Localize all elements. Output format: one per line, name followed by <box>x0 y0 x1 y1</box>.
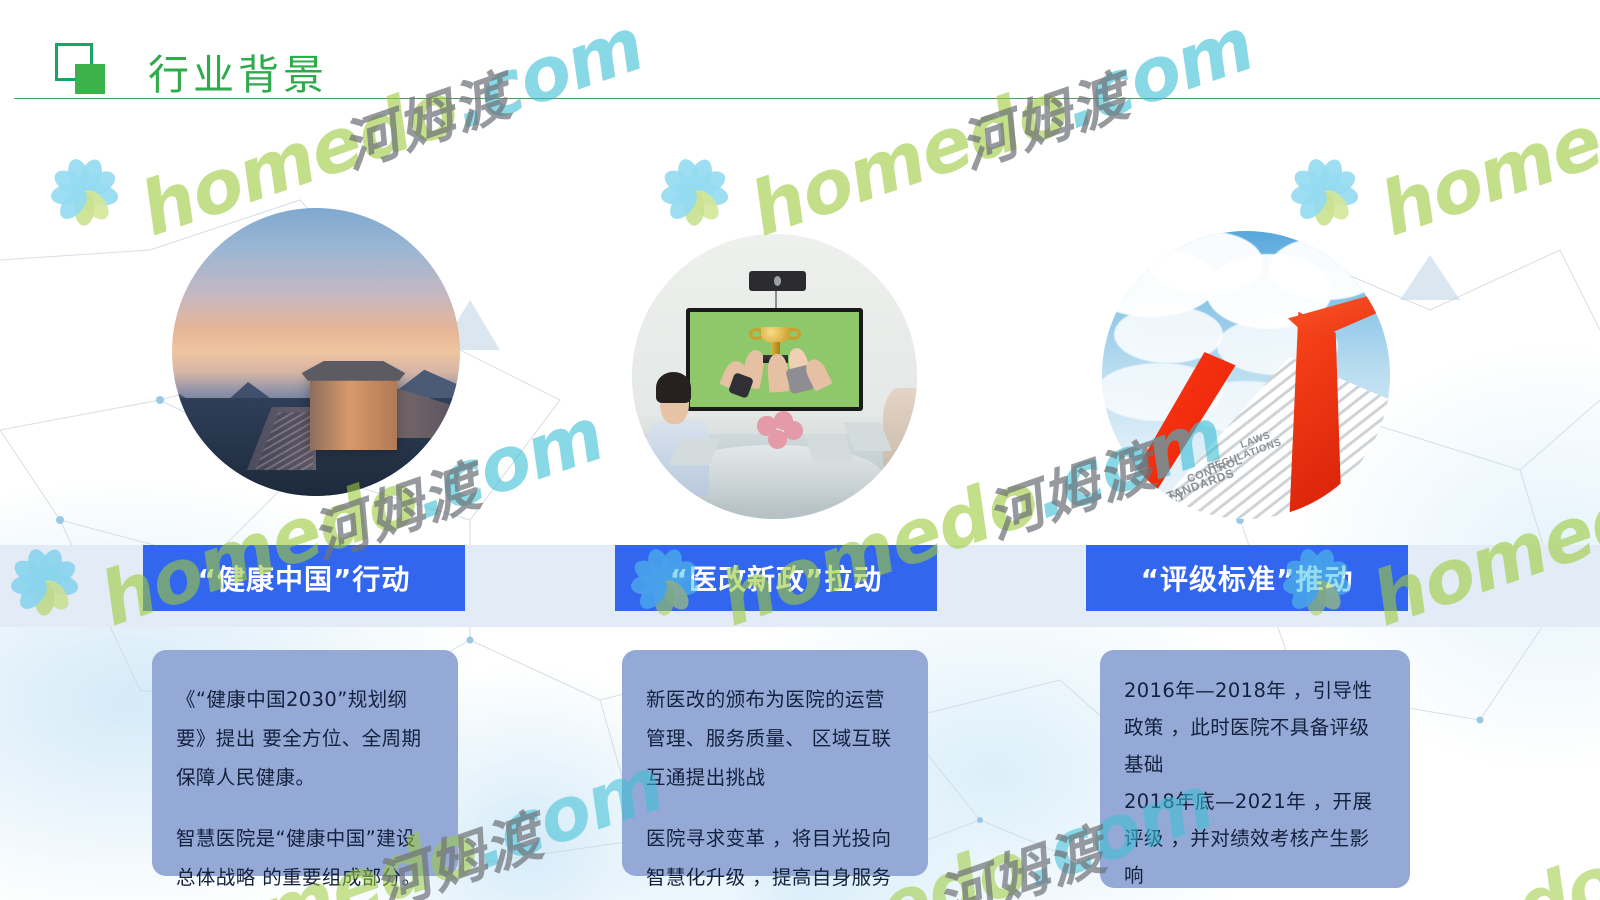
display-screen-content <box>690 312 859 407</box>
slide-header: 行业背景 <box>0 0 1600 110</box>
display-screen-bezel <box>686 308 863 411</box>
attendee-left <box>646 377 709 497</box>
cloud-shape <box>1269 237 1384 300</box>
paragraph-gap <box>176 797 434 819</box>
column-banner-health-china[interactable]: “健康中国”行动 <box>143 545 465 611</box>
header-divider <box>14 98 1600 99</box>
red-carpet-stairs-sky-photo: LAWS REGULATIONS CONTROL STANDARDS POLIC… <box>1102 231 1390 519</box>
conference-room-trophy-photo <box>632 234 917 519</box>
page-title: 行业背景 <box>148 41 328 101</box>
column-banner-medical-reform[interactable]: “医改新政”拉动 <box>615 545 937 611</box>
flower-logo-icon <box>0 527 99 636</box>
column-text-card-rating-standard: 2016年—2018年 ，引导性政策 ，此时医院不具备评级基础 2018年底—2… <box>1100 650 1410 888</box>
flower-petal <box>768 430 787 449</box>
table-flower-arrangement <box>757 411 803 468</box>
card-paragraph: 2016年—2018年 ，引导性政策 ，此时医院不具备评级基础 <box>1124 672 1386 783</box>
paragraph-gap <box>646 797 904 819</box>
attendee-hair <box>656 372 691 403</box>
great-wall-sunset-photo <box>172 208 460 496</box>
card-paragraph: 《“健康中国2030”规划纲要》提出 要全方位、全周期保障人民健康。 <box>176 680 434 797</box>
watermark-brand-cn: 河姆渡 <box>925 805 1116 900</box>
column-text-card-health-china: 《“健康中国2030”规划纲要》提出 要全方位、全周期保障人民健康。 智慧医院是… <box>152 650 458 876</box>
flower-logo-icon <box>1270 137 1379 246</box>
trophy-bowl <box>761 327 790 343</box>
column-banner-rating-standard[interactable]: “评级标准”推动 <box>1086 545 1408 611</box>
flower-logo-icon <box>640 137 749 246</box>
card-paragraph: 医院寻求变革 ，将目光投向智慧化升级 ，提高自身服务和生存竞争能力 <box>646 819 904 900</box>
watchtower-roof <box>302 361 406 381</box>
column-text-card-medical-reform: 新医改的颁布为医院的运营管理、服务质量、 区域互联互通提出挑战 医院寻求变革 ，… <box>622 650 928 876</box>
watchtower-body <box>310 375 396 450</box>
square-outline-filled-icon <box>55 43 109 93</box>
column-image-great-wall <box>172 208 460 496</box>
attendee-right <box>883 388 917 468</box>
card-paragraph: 新医改的颁布为医院的运营管理、服务质量、 区域互联互通提出挑战 <box>646 680 904 797</box>
column-image-conference-room <box>632 234 917 519</box>
card-paragraph: 2018年底—2021年 ，开展评级 ，并对绩效考核产生影响 <box>1124 783 1386 894</box>
icon-square-filled <box>75 64 105 94</box>
video-camera-icon <box>749 271 806 291</box>
card-paragraph: 智慧医院是“健康中国”建设总体战略 的重要组成部分。 <box>176 819 434 897</box>
flower-logo-icon <box>30 137 139 246</box>
column-image-red-carpet-stairs: LAWS REGULATIONS CONTROL STANDARDS POLIC… <box>1102 231 1390 519</box>
card-paragraph: 2021年3月，国家卫健委《医院智慧管理分级评估标准体系（试行）》 <box>1124 894 1386 900</box>
